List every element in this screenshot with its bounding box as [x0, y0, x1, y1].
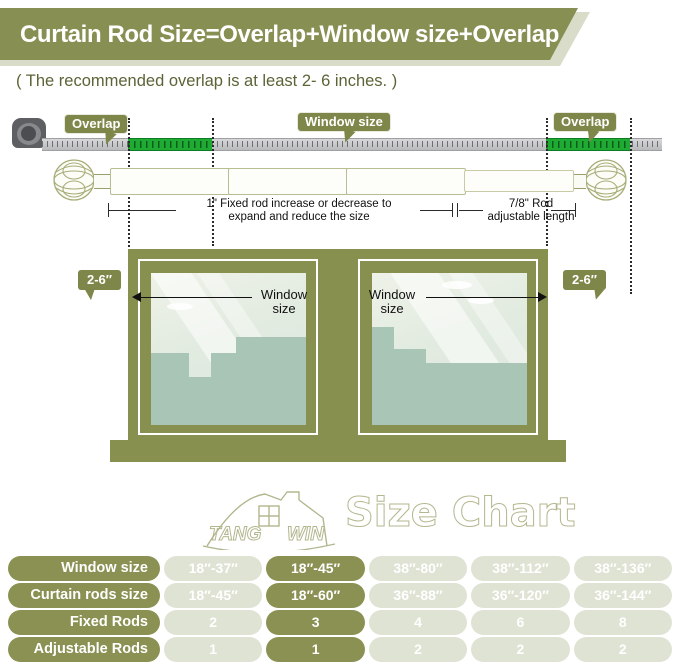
callout-overlap-left: Overlap: [64, 114, 128, 134]
cloud-shape: [167, 303, 193, 310]
rod-segment-3: [346, 168, 466, 195]
cell-fixed-rods-1: 2: [164, 610, 262, 635]
brand-logo: TANG WIN Size Chart: [195, 488, 505, 550]
logo-brand-right: WIN: [287, 524, 324, 546]
building-silhouette: [151, 353, 189, 425]
guide-line-4: [630, 118, 632, 294]
dim-line-fixed-right: [420, 210, 452, 211]
rod-adjustable-label-line1: 7/8" Rod: [479, 198, 583, 211]
finial-right-icon: [584, 158, 628, 202]
page-title: Curtain Rod Size=Overlap+Window size+Ove…: [20, 12, 559, 58]
callout-overlap-right: Overlap: [553, 112, 617, 132]
callout-gap-right: 2-6″: [563, 270, 606, 290]
cell-adjustable-rods-1: 1: [164, 637, 262, 662]
building-silhouette: [211, 353, 236, 425]
table-row: Window size 18″-37″ 18″-45″ 38″-80″ 38″-…: [8, 556, 672, 581]
window-size-label-left: Window size: [252, 288, 316, 315]
callout-window-size: Window size: [297, 112, 391, 132]
window-size-label-left-line2: size: [252, 302, 316, 316]
building-silhouette: [236, 337, 306, 425]
cell-fixed-rods-2: 3: [266, 610, 364, 635]
row-header-curtain-rods-size: Curtain rods size: [8, 583, 160, 608]
dim-tick-right: [575, 203, 576, 217]
callout-gap-left-label: 2-6″: [87, 272, 112, 287]
cell-fixed-rods-4: 6: [471, 610, 569, 635]
dim-tick-mid-b: [457, 203, 458, 217]
table-row: Fixed Rods 2 3 4 6 8: [8, 610, 672, 635]
callout-gap-right-label: 2-6″: [572, 272, 597, 287]
rod-segment-1: [110, 168, 230, 195]
cell-fixed-rods-3: 4: [369, 610, 467, 635]
callout-gap-left: 2-6″: [78, 270, 121, 290]
window-size-line-right: [426, 297, 538, 298]
window-size-label-right: Window size: [360, 288, 424, 315]
window-pane-right: [358, 259, 538, 435]
callout-window-size-label: Window size: [305, 114, 383, 129]
cell-window-size-3: 38″-80″: [369, 556, 467, 581]
tape-measure-reel: [12, 118, 46, 148]
building-silhouette: [394, 349, 426, 425]
rod-adjustable-label-line2: adjustable length: [479, 211, 583, 224]
cell-curtain-rods-size-2: 18″-60″: [266, 583, 364, 608]
finial-left-icon: [52, 158, 96, 202]
tape-overlap-left-segment: [128, 138, 212, 151]
window-sill: [110, 440, 566, 462]
cell-adjustable-rods-4: 2: [471, 637, 569, 662]
callout-tail-icon: [85, 288, 97, 301]
rod-fixed-label-line2: expand and reduce the size: [176, 211, 422, 224]
window-size-label-right-line2: size: [360, 302, 424, 316]
callout-tail-icon: [592, 288, 604, 301]
dim-line-adj-right: [551, 210, 576, 211]
cell-adjustable-rods-5: 2: [574, 637, 672, 662]
rod-segment-4-adjustable: [464, 170, 574, 192]
size-chart-infographic: Curtain Rod Size=Overlap+Window size+Ove…: [0, 0, 679, 664]
arrow-right-icon: [538, 292, 547, 302]
callout-overlap-left-label: Overlap: [72, 116, 120, 131]
rod-segment-2: [228, 168, 348, 195]
cell-window-size-2: 18″-45″: [266, 556, 364, 581]
size-chart-table: Window size 18″-37″ 18″-45″ 38″-80″ 38″-…: [8, 556, 672, 664]
subtitle-note: ( The recommended overlap is at least 2-…: [16, 72, 397, 91]
window-frame: [128, 249, 548, 445]
row-header-adjustable-rods: Adjustable Rods: [8, 637, 160, 662]
window-size-label-right-line1: Window: [360, 288, 424, 302]
cell-curtain-rods-size-4: 36″-120″: [471, 583, 569, 608]
dim-line-fixed-left: [108, 210, 176, 211]
rod-collar-left: [94, 174, 110, 189]
cell-adjustable-rods-3: 2: [369, 637, 467, 662]
window-pane-left: [138, 259, 318, 435]
header-banner: Curtain Rod Size=Overlap+Window size+Ove…: [0, 8, 679, 66]
cell-curtain-rods-size-1: 18″-45″: [164, 583, 262, 608]
arrow-left-icon: [132, 292, 141, 302]
cloud-shape: [442, 281, 472, 289]
row-header-window-size: Window size: [8, 556, 160, 581]
building-silhouette: [426, 363, 527, 425]
rod-fixed-label-line1: 1" Fixed rod increase or decrease to: [176, 198, 422, 211]
logo-brand-left: TANG: [209, 524, 261, 546]
window-size-label-left-line1: Window: [252, 288, 316, 302]
rod-fixed-label: 1" Fixed rod increase or decrease to exp…: [176, 198, 422, 223]
table-row: Adjustable Rods 1 1 2 2 2: [8, 637, 672, 662]
cell-window-size-5: 38″-136″: [574, 556, 672, 581]
cell-adjustable-rods-2: 1: [266, 637, 364, 662]
logo-size-chart-title: Size Chart: [345, 490, 576, 536]
tape-ticks-green-left: [128, 139, 212, 150]
cell-window-size-4: 38″-112″: [471, 556, 569, 581]
building-silhouette: [372, 327, 394, 425]
dim-tick-mid-a: [452, 203, 453, 217]
tape-reel-hole: [21, 126, 36, 141]
table-row: Curtain rods size 18″-45″ 18″-60″ 36″-88…: [8, 583, 672, 608]
cloud-shape: [468, 297, 494, 304]
building-silhouette: [189, 377, 211, 425]
row-header-fixed-rods: Fixed Rods: [8, 610, 160, 635]
cell-window-size-1: 18″-37″: [164, 556, 262, 581]
cell-fixed-rods-5: 8: [574, 610, 672, 635]
callout-overlap-right-label: Overlap: [561, 114, 609, 129]
cell-curtain-rods-size-5: 36″-144″: [574, 583, 672, 608]
cell-curtain-rods-size-3: 36″-88″: [369, 583, 467, 608]
window-size-line-left: [140, 297, 252, 298]
